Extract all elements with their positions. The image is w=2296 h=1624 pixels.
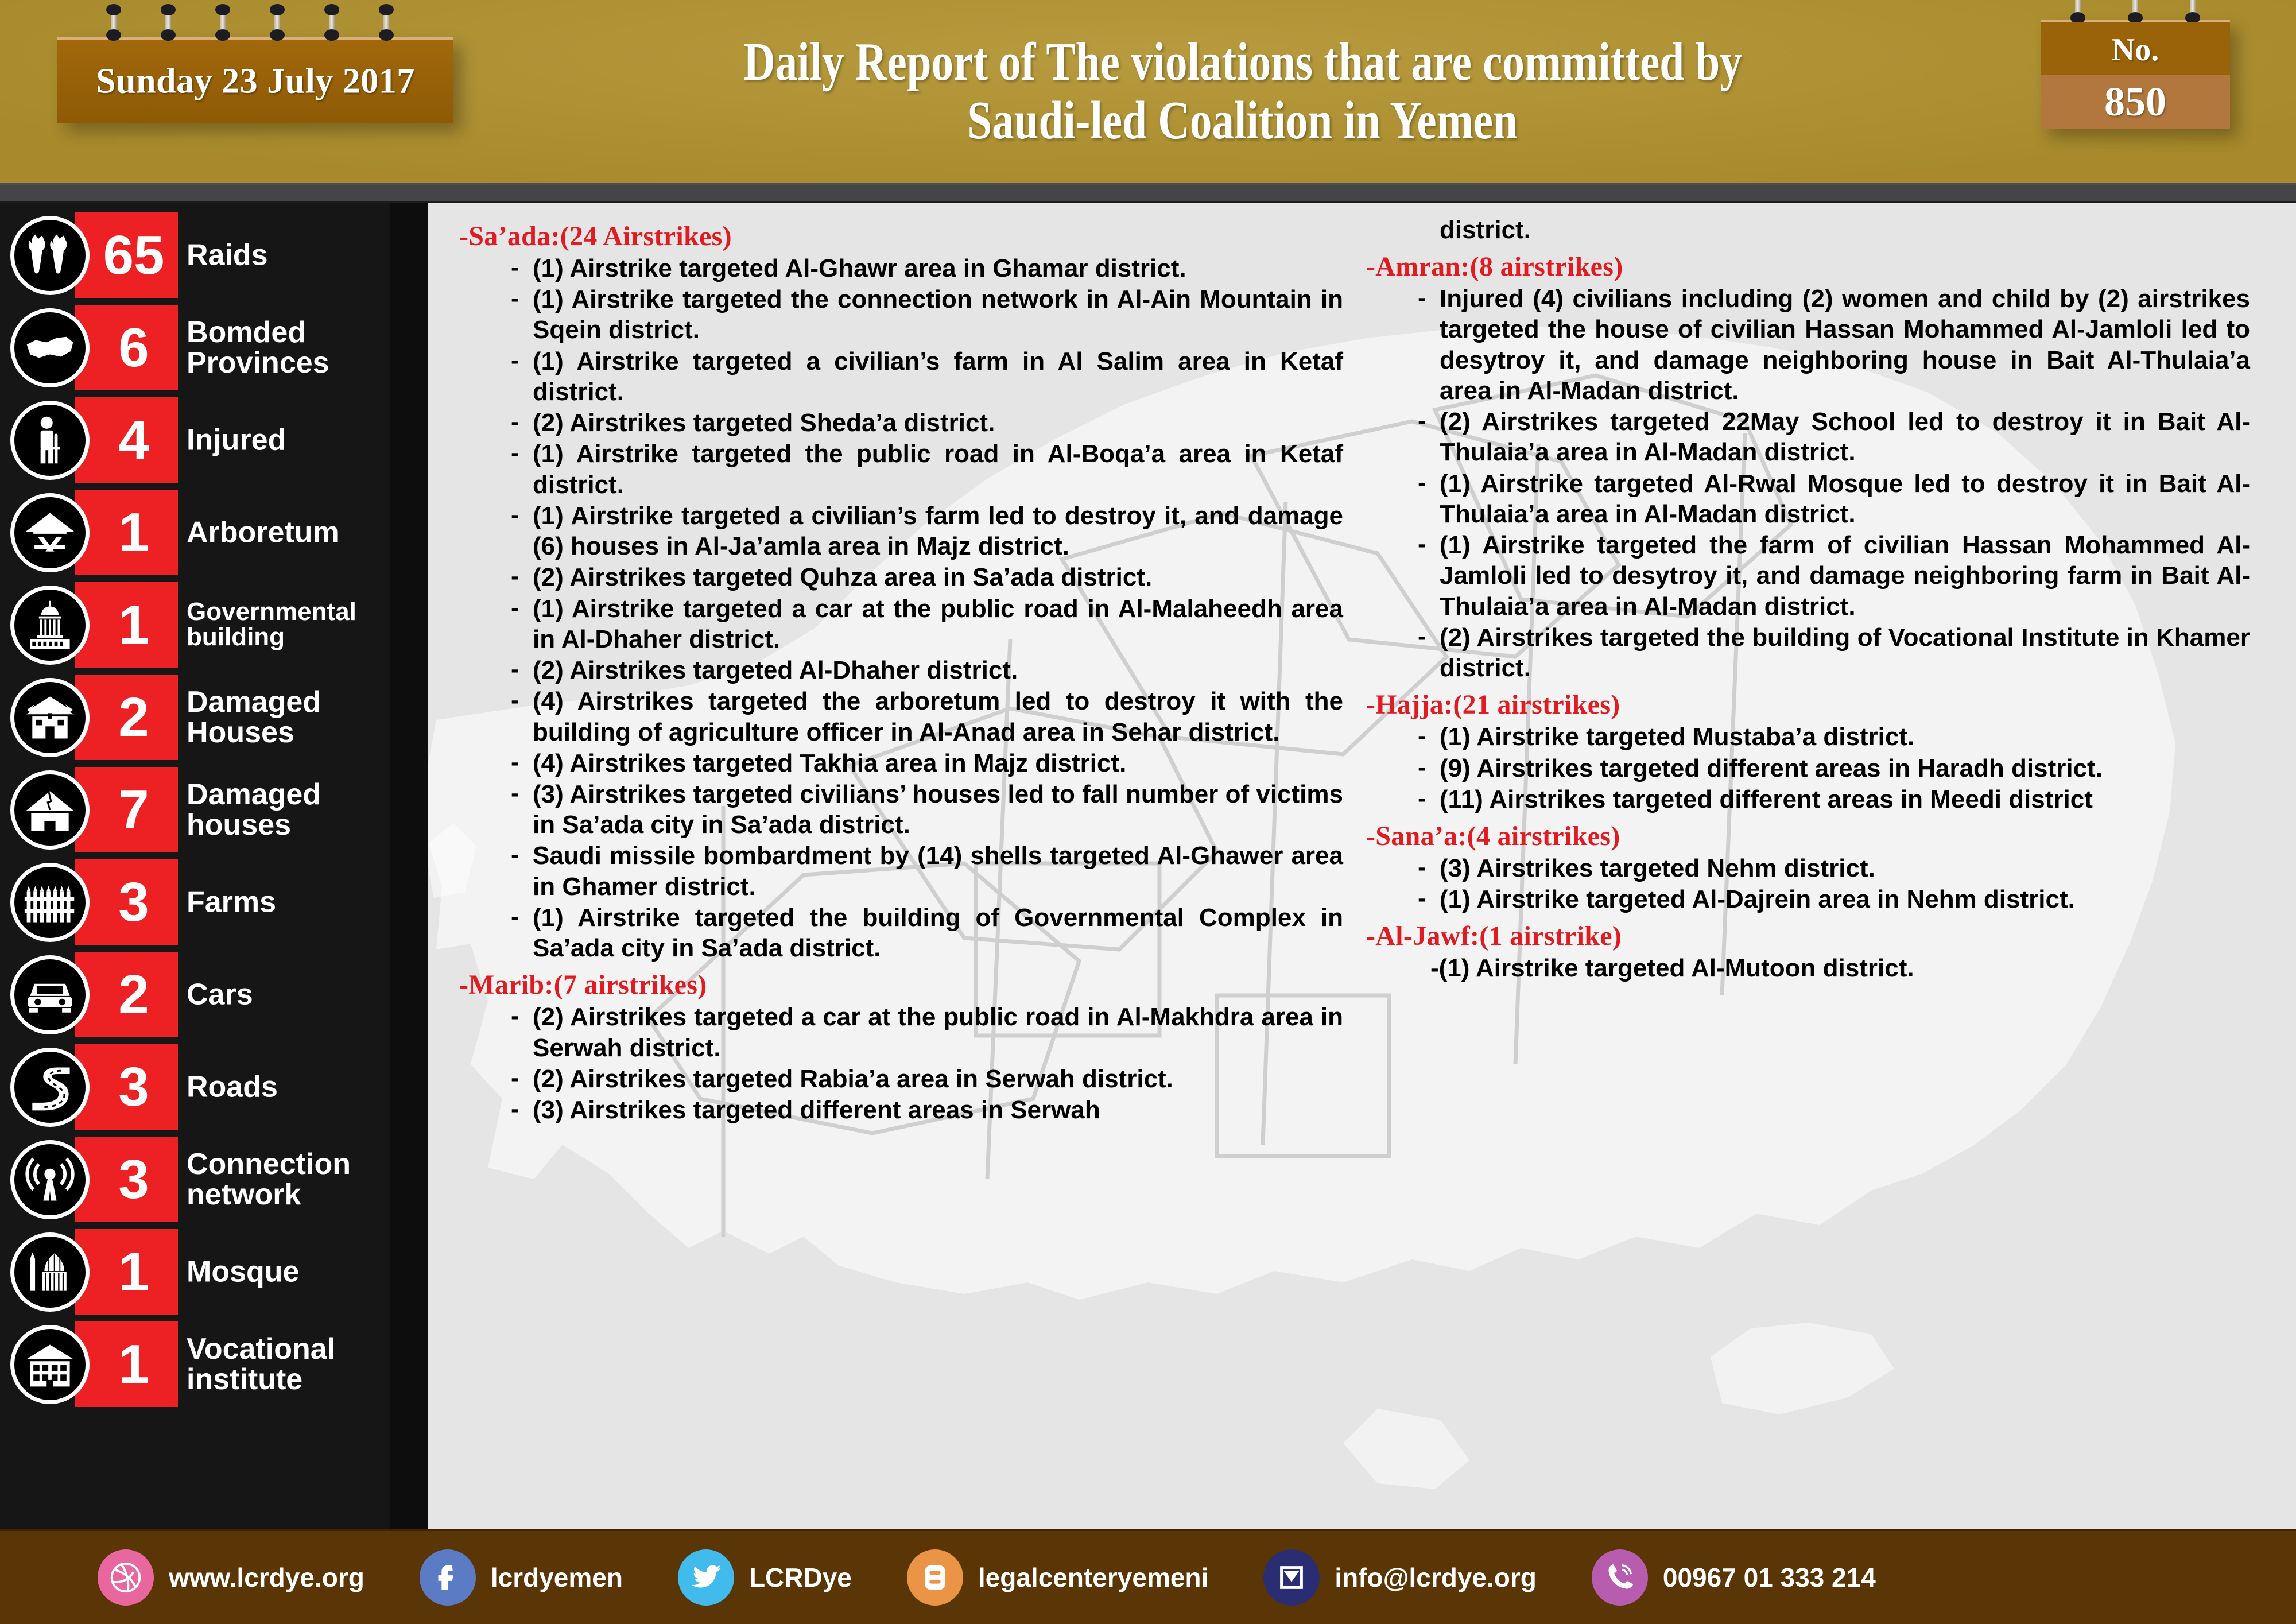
list-item: (2) Airstrikes targeted Sheda’a district… <box>507 408 1343 438</box>
yemen-map-icon <box>10 308 90 387</box>
page-header: Sunday 23 July 2017 Daily Report of The … <box>0 0 2296 183</box>
list-item: (2) Airstrikes targeted Quhza area in Sa… <box>507 562 1343 592</box>
stat-label: Roads <box>187 1072 382 1102</box>
list-item: Injured (4) civilians including (2) wome… <box>1414 284 2250 406</box>
list-item: (3) Airstrikes targeted civilians’ house… <box>507 779 1343 840</box>
statistics-list: 65 Raids 6 Bomded Provinces 4 Injured <box>0 209 390 1410</box>
section-list-sanaa: (3) Airstrikes targeted Nehm district. (… <box>1414 853 2250 914</box>
blogger-icon <box>907 1549 963 1606</box>
list-item: (3) Airstrikes targeted different areas … <box>507 1095 1343 1125</box>
spiral-ring-icon <box>324 6 339 42</box>
stat-value: 3 <box>75 859 178 945</box>
stat-value: 3 <box>75 1137 178 1222</box>
stat-label: Damaged Houses <box>187 687 382 747</box>
footer-item-phone[interactable]: 00967 01 333 214 <box>1592 1549 1876 1606</box>
footer-text: LCRDye <box>749 1562 852 1593</box>
section-heading-aljawf: -Al-Jawf:(1 airstrike) <box>1366 920 2250 952</box>
list-item: (2) Airstrikes targeted a car at the pub… <box>507 1002 1343 1063</box>
stat-value: 1 <box>75 1321 178 1407</box>
stat-row-cars[interactable]: 2 Cars <box>0 948 390 1041</box>
footer-links: www.lcrdye.org lcrdyemen LCRDye legalcen… <box>0 1549 1931 1606</box>
page-title-line-1: Daily Report of The violations that are … <box>743 33 1742 92</box>
report-number-value: 850 <box>2104 78 2166 126</box>
arboretum-icon <box>10 493 90 572</box>
stat-row-connection-network[interactable]: 3 Connection network <box>0 1133 390 1226</box>
dribbble-icon <box>98 1549 154 1606</box>
list-item: (1) Airstrike targeted the farm of civil… <box>1414 530 2250 622</box>
email-icon <box>1263 1549 1320 1606</box>
footer-text: info@lcrdye.org <box>1335 1562 1537 1593</box>
report-body: 65 Raids 6 Bomded Provinces 4 Injured <box>0 203 2296 1529</box>
section-heading-marib: -Marib:(7 airstrikes) <box>459 969 1343 1001</box>
stat-value: 65 <box>75 212 178 298</box>
stat-label: Cars <box>187 979 382 1010</box>
page-footer: www.lcrdye.org lcrdyemen LCRDye legalcen… <box>0 1529 2296 1624</box>
farm-fence-icon <box>10 863 90 942</box>
stat-label: Governmental building <box>187 599 382 651</box>
report-date: Sunday 23 July 2017 <box>57 61 453 102</box>
list-item: (11) Airstrikes targeted different areas… <box>1414 784 2250 815</box>
stat-label: Bomded Provinces <box>187 317 382 378</box>
list-item: (1) Airstrike targeted Mustaba’a distric… <box>1414 722 2250 752</box>
stat-label: Mosque <box>187 1257 382 1287</box>
stat-label: Farms <box>187 887 382 917</box>
report-content: -Sa’ada:(24 Airstrikes) (1) Airstrike ta… <box>459 215 2296 1524</box>
content-column-left: -Sa’ada:(24 Airstrikes) (1) Airstrike ta… <box>459 215 1343 1524</box>
viber-phone-icon <box>1592 1549 1648 1606</box>
spiral-ring-icon <box>2185 0 2200 25</box>
footer-text: legalcenteryemeni <box>978 1562 1208 1593</box>
road-icon <box>10 1048 90 1127</box>
stat-row-injured[interactable]: 4 Injured <box>0 394 390 486</box>
stat-row-governmental-building[interactable]: 1 Governmental building <box>0 579 390 671</box>
stat-value: 7 <box>75 767 178 852</box>
list-item: (1) Airstrike targeted the connection ne… <box>507 284 1343 345</box>
header-divider <box>0 183 2296 203</box>
spiral-ring-icon <box>2128 0 2143 25</box>
calendar-spiral-rings <box>2041 0 2230 25</box>
mosque-icon <box>10 1232 90 1312</box>
stat-row-farms[interactable]: 3 Farms <box>0 856 390 948</box>
stat-value: 3 <box>75 1044 178 1130</box>
report-number-card: No. 850 <box>2041 20 2230 129</box>
page-title-line-2: Saudi-led Coalition in Yemen <box>968 92 1518 150</box>
damaged-house-icon <box>10 678 90 757</box>
list-item: (1) Airstrike targeted a civilian’s farm… <box>507 346 1343 407</box>
report-number-label: No. <box>2112 32 2159 68</box>
stat-row-bombed-provinces[interactable]: 6 Bomded Provinces <box>0 301 390 394</box>
stat-row-roads[interactable]: 3 Roads <box>0 1041 390 1133</box>
stat-label: Arboretum <box>187 517 382 548</box>
list-item: (1) Airstrike targeted Al-Ghawr area in … <box>507 253 1343 284</box>
continuation-text: district. <box>1440 215 2250 245</box>
stat-row-vocational-institute[interactable]: 1 Vocational institute <box>0 1318 390 1410</box>
stat-row-mosque[interactable]: 1 Mosque <box>0 1226 390 1318</box>
list-item: (9) Airstrikes targeted different areas … <box>1414 753 2250 784</box>
stat-value: 1 <box>75 582 178 668</box>
car-icon <box>10 955 90 1034</box>
list-item: Saudi missile bombardment by (14) shells… <box>507 840 1343 901</box>
stat-value: 1 <box>75 490 178 575</box>
section-heading-amran: -Amran:(8 airstrikes) <box>1366 251 2250 282</box>
stat-label: Vocational institute <box>187 1334 382 1394</box>
calendar-spiral-rings <box>57 6 453 42</box>
footer-item-email[interactable]: info@lcrdye.org <box>1263 1549 1537 1606</box>
section-heading-hajja: -Hajja:(21 airstrikes) <box>1366 689 2250 720</box>
section-heading-sanaa: -Sana’a:(4 airstrikes) <box>1366 820 2250 852</box>
facebook-icon <box>420 1549 476 1606</box>
spiral-ring-icon <box>215 6 230 42</box>
airstrike-raid-icon <box>10 216 90 295</box>
list-item: (1) Airstrike targeted the building of G… <box>507 902 1343 963</box>
stat-row-damaged-houses-1[interactable]: 2 Damaged Houses <box>0 671 390 763</box>
footer-item-facebook[interactable]: lcrdyemen <box>420 1549 623 1606</box>
list-item: (2) Airstrikes targeted Al-Dhaher distri… <box>507 655 1343 685</box>
section-list-hajja: (1) Airstrike targeted Mustaba’a distric… <box>1414 722 2250 815</box>
section-item-aljawf: -(1) Airstrike targeted Al-Mutoon distri… <box>1430 953 2250 983</box>
section-list-amran: Injured (4) civilians including (2) wome… <box>1414 284 2250 683</box>
section-list-marib: (2) Airstrikes targeted a car at the pub… <box>507 1002 1343 1125</box>
section-list-saada: (1) Airstrike targeted Al-Ghawr area in … <box>507 253 1343 963</box>
stat-value: 2 <box>75 952 178 1037</box>
footer-item-twitter[interactable]: LCRDye <box>678 1549 852 1606</box>
page-title: Daily Report of The violations that are … <box>476 6 2009 178</box>
spiral-ring-icon <box>270 6 285 42</box>
stat-label: Damaged houses <box>187 779 382 840</box>
stat-label: Injured <box>187 425 382 455</box>
list-item: (1) Airstrike targeted Al-Dajrein area i… <box>1414 884 2250 914</box>
stat-row-raids[interactable]: 65 Raids <box>0 209 390 301</box>
list-item: (1) Airstrike targeted Al-Rwal Mosque le… <box>1414 468 2250 529</box>
stat-value: 1 <box>75 1229 178 1315</box>
footer-text: www.lcrdye.org <box>169 1562 364 1593</box>
stat-value: 6 <box>75 305 178 390</box>
footer-text: 00967 01 333 214 <box>1663 1562 1876 1593</box>
injured-person-icon <box>10 401 90 480</box>
date-calendar-card: Sunday 23 July 2017 <box>57 37 453 123</box>
content-column-right: district. -Amran:(8 airstrikes) Injured … <box>1366 215 2250 1524</box>
footer-text: lcrdyemen <box>491 1562 623 1593</box>
footer-item-website[interactable]: www.lcrdye.org <box>98 1549 364 1606</box>
stat-label: Raids <box>187 240 382 270</box>
twitter-icon <box>678 1549 734 1606</box>
footer-item-blogger[interactable]: legalcenteryemeni <box>907 1549 1208 1606</box>
list-item: (2) Airstrikes targeted 22May School led… <box>1414 406 2250 467</box>
stat-label: Connection network <box>187 1149 382 1210</box>
list-item: (2) Airstrikes targeted the building of … <box>1414 622 2250 683</box>
stat-value: 2 <box>75 675 178 760</box>
stat-row-arboretum[interactable]: 1 Arboretum <box>0 486 390 579</box>
spiral-ring-icon <box>161 6 176 42</box>
damaged-house-roof-icon <box>10 770 90 850</box>
stat-row-damaged-houses-2[interactable]: 7 Damaged houses <box>0 763 390 856</box>
section-heading-saada: -Sa’ada:(24 Airstrikes) <box>459 220 1343 252</box>
list-item: (1) Airstrike targeted a civilian’s farm… <box>507 501 1343 561</box>
list-item: (3) Airstrikes targeted Nehm district. <box>1414 853 2250 883</box>
list-item: (2) Airstrikes targeted Rabia’a area in … <box>507 1064 1343 1094</box>
spiral-ring-icon <box>2070 0 2085 25</box>
list-item: (4) Airstrikes targeted Takhia area in M… <box>507 748 1343 778</box>
spiral-ring-icon <box>379 6 394 42</box>
spiral-ring-icon <box>106 6 121 42</box>
government-building-icon <box>10 586 90 665</box>
statistics-sidebar: 65 Raids 6 Bomded Provinces 4 Injured <box>0 203 428 1529</box>
list-item: (1) Airstrike targeted a car at the publ… <box>507 594 1343 654</box>
list-item: (4) Airstrikes targeted the arboretum le… <box>507 686 1343 747</box>
antenna-tower-icon <box>10 1140 90 1219</box>
stat-value: 4 <box>75 397 178 483</box>
institute-building-icon <box>10 1325 90 1404</box>
list-item: (1) Airstrike targeted the public road i… <box>507 439 1343 499</box>
